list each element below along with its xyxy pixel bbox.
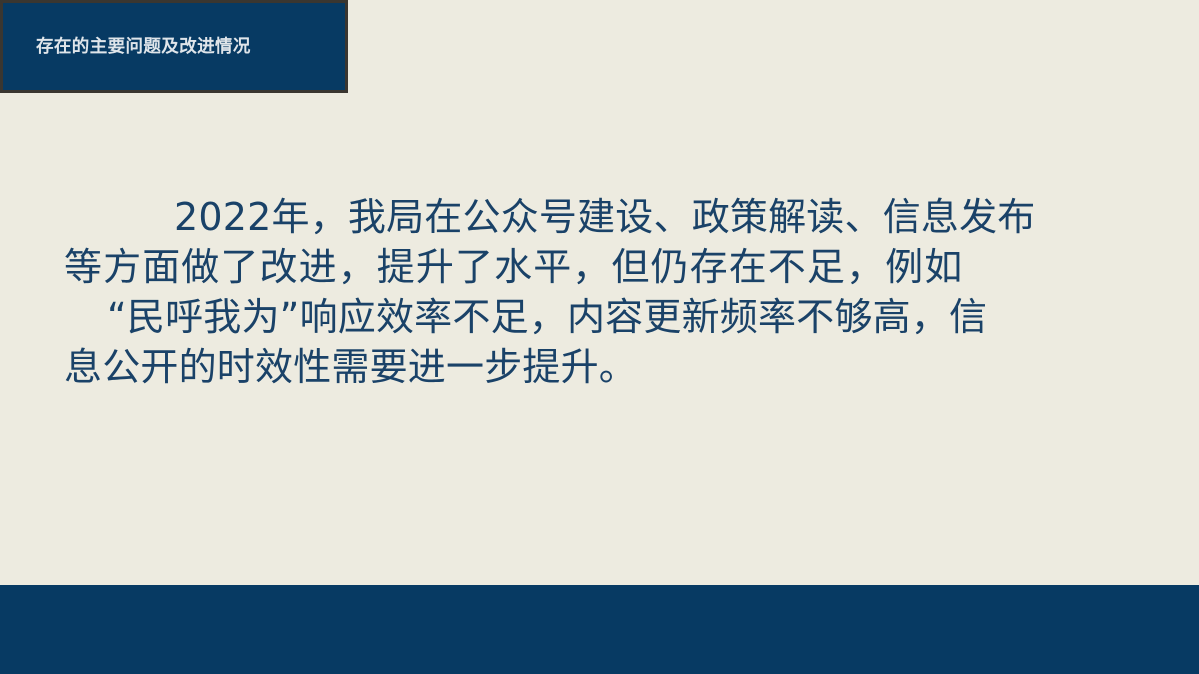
slide-body-text: 2022年，我局在公众号建设、政策解读、信息发布 等方面做了改进，提升了水平，但…: [64, 192, 1074, 392]
slide-canvas: 存在的主要问题及改进情况 2022年，我局在公众号建设、政策解读、信息发布 等方…: [0, 0, 1199, 674]
body-line: 2022年，我局在公众号建设、政策解读、信息发布: [64, 192, 1074, 242]
slide-title-box: 存在的主要问题及改进情况: [0, 0, 348, 93]
body-line: 等方面做了改进，提升了水平，但仍存在不足，例如: [64, 242, 1074, 292]
body-line: 息公开的时效性需要进一步提升。: [64, 342, 1074, 392]
slide-title: 存在的主要问题及改进情况: [36, 38, 251, 57]
slide-footer-bar: [0, 585, 1199, 674]
body-line: “民呼我为”响应效率不足，内容更新频率不够高，信: [64, 292, 1074, 342]
